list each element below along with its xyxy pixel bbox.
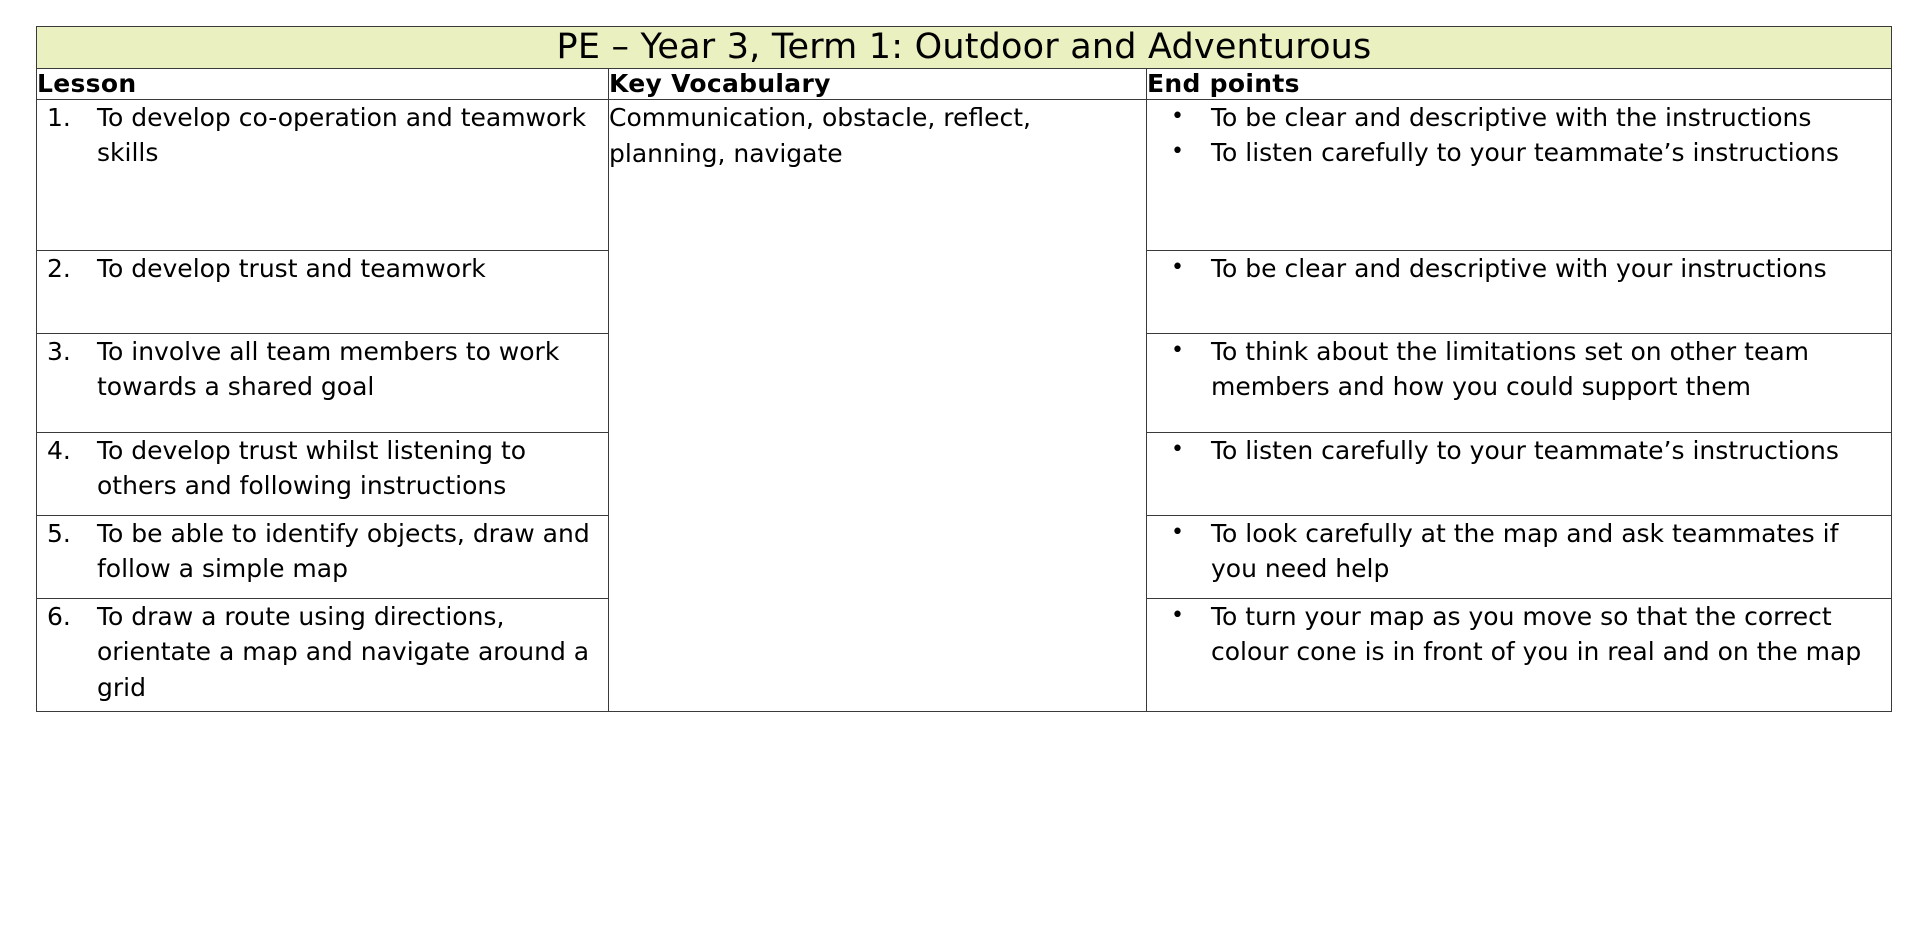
- list-item: • To look carefully at the map and ask t…: [1147, 516, 1891, 587]
- list-item: • To think about the limitations set on …: [1147, 334, 1891, 405]
- lesson-text-3: To involve all team members to work towa…: [97, 334, 608, 405]
- lesson-item-5: 5. To be able to identify objects, draw …: [37, 516, 608, 587]
- title-row: PE – Year 3, Term 1: Outdoor and Adventu…: [37, 27, 1892, 69]
- title-banner: PE – Year 3, Term 1: Outdoor and Adventu…: [37, 27, 1892, 69]
- endpoints-list-5: • To look carefully at the map and ask t…: [1147, 516, 1891, 587]
- lesson-number-2: 2.: [37, 251, 97, 287]
- endpoints-cell-1: • To be clear and descriptive with the i…: [1147, 99, 1892, 250]
- header-lesson: Lesson: [37, 68, 609, 99]
- lesson-item-6: 6. To draw a route using directions, ori…: [37, 599, 608, 706]
- list-item: • To be clear and descriptive with your …: [1147, 251, 1891, 287]
- endpoints-list-3: • To think about the limitations set on …: [1147, 334, 1891, 405]
- lesson-text-1: To develop co-operation and teamwork ski…: [97, 100, 608, 171]
- endpoint-text: To listen carefully to your teammate’s i…: [1211, 433, 1891, 469]
- bullet-icon: •: [1147, 135, 1211, 169]
- endpoints-list-1: • To be clear and descriptive with the i…: [1147, 100, 1891, 171]
- bullet-icon: •: [1147, 433, 1211, 467]
- endpoint-text: To look carefully at the map and ask tea…: [1211, 516, 1891, 587]
- list-item: • To listen carefully to your teammate’s…: [1147, 135, 1891, 171]
- endpoints-list-6: • To turn your map as you move so that t…: [1147, 599, 1891, 670]
- bullet-icon: •: [1147, 334, 1211, 368]
- endpoints-cell-6: • To turn your map as you move so that t…: [1147, 598, 1892, 711]
- endpoints-cell-4: • To listen carefully to your teammate’s…: [1147, 432, 1892, 515]
- endpoint-text: To turn your map as you move so that the…: [1211, 599, 1891, 670]
- lesson-number-5: 5.: [37, 516, 97, 552]
- list-item: • To be clear and descriptive with the i…: [1147, 100, 1891, 136]
- lesson-cell-3: 3. To involve all team members to work t…: [37, 333, 609, 432]
- lesson-cell-6: 6. To draw a route using directions, ori…: [37, 598, 609, 711]
- endpoint-text: To listen carefully to your teammate’s i…: [1211, 135, 1891, 171]
- list-item: • To listen carefully to your teammate’s…: [1147, 433, 1891, 469]
- endpoint-text: To be clear and descriptive with the ins…: [1211, 100, 1891, 136]
- lesson-number-1: 1.: [37, 100, 97, 136]
- lesson-text-6: To draw a route using directions, orient…: [97, 599, 608, 706]
- lesson-item-3: 3. To involve all team members to work t…: [37, 334, 608, 405]
- curriculum-table: PE – Year 3, Term 1: Outdoor and Adventu…: [36, 26, 1892, 712]
- lesson-number-6: 6.: [37, 599, 97, 635]
- bullet-icon: •: [1147, 516, 1211, 550]
- endpoints-list-4: • To listen carefully to your teammate’s…: [1147, 433, 1891, 469]
- header-key-vocabulary: Key Vocabulary: [609, 68, 1147, 99]
- endpoints-cell-3: • To think about the limitations set on …: [1147, 333, 1892, 432]
- document-page: PE – Year 3, Term 1: Outdoor and Adventu…: [0, 0, 1920, 948]
- lesson-cell-4: 4. To develop trust whilst listening to …: [37, 432, 609, 515]
- lesson-text-2: To develop trust and teamwork: [97, 251, 608, 287]
- lesson-number-3: 3.: [37, 334, 97, 370]
- lesson-text-4: To develop trust whilst listening to oth…: [97, 433, 608, 504]
- key-vocabulary-cell: Communication, obstacle, reflect, planni…: [609, 99, 1147, 711]
- table-row: 1. To develop co-operation and teamwork …: [37, 99, 1892, 250]
- header-end-points: End points: [1147, 68, 1892, 99]
- list-item: • To turn your map as you move so that t…: [1147, 599, 1891, 670]
- column-header-row: Lesson Key Vocabulary End points: [37, 68, 1892, 99]
- page-title: PE – Year 3, Term 1: Outdoor and Adventu…: [37, 27, 1891, 68]
- endpoints-list-2: • To be clear and descriptive with your …: [1147, 251, 1891, 287]
- lesson-item-2: 2. To develop trust and teamwork: [37, 251, 608, 287]
- bullet-icon: •: [1147, 599, 1211, 633]
- lesson-item-4: 4. To develop trust whilst listening to …: [37, 433, 608, 504]
- lesson-item-1: 1. To develop co-operation and teamwork …: [37, 100, 608, 171]
- key-vocabulary-text: Communication, obstacle, reflect, planni…: [609, 103, 1031, 168]
- lesson-cell-1: 1. To develop co-operation and teamwork …: [37, 99, 609, 250]
- endpoints-cell-5: • To look carefully at the map and ask t…: [1147, 515, 1892, 598]
- endpoints-cell-2: • To be clear and descriptive with your …: [1147, 250, 1892, 333]
- lesson-text-5: To be able to identify objects, draw and…: [97, 516, 608, 587]
- bullet-icon: •: [1147, 100, 1211, 134]
- bullet-icon: •: [1147, 251, 1211, 285]
- endpoint-text: To think about the limitations set on ot…: [1211, 334, 1891, 405]
- lesson-cell-5: 5. To be able to identify objects, draw …: [37, 515, 609, 598]
- lesson-cell-2: 2. To develop trust and teamwork: [37, 250, 609, 333]
- endpoint-text: To be clear and descriptive with your in…: [1211, 251, 1891, 287]
- lesson-number-4: 4.: [37, 433, 97, 469]
